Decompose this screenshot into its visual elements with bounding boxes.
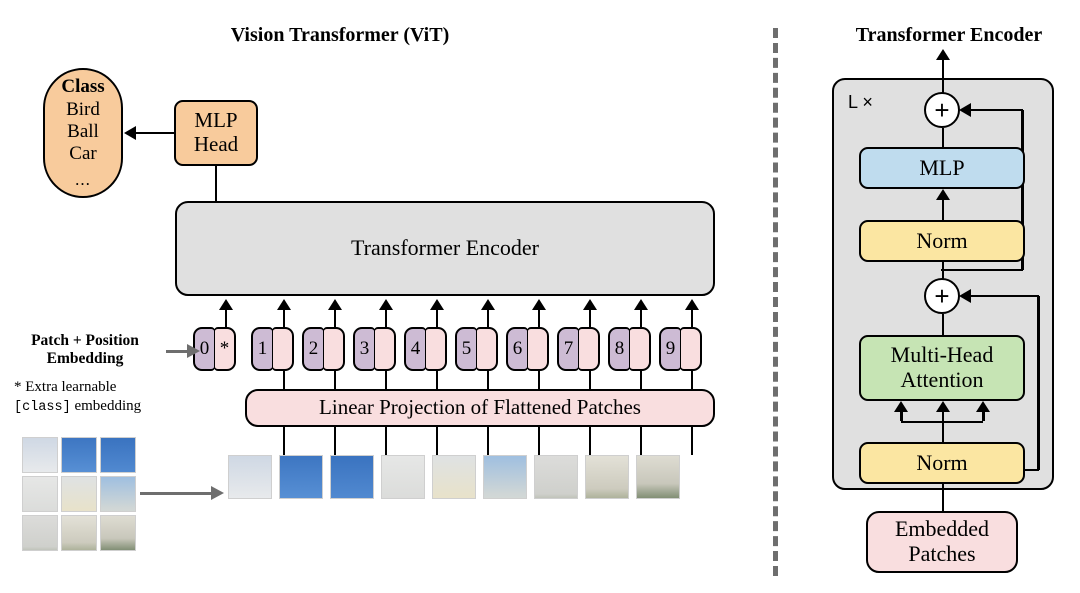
class-item-car: Car [69, 143, 96, 165]
embedded-patches-line2: Patches [908, 542, 975, 567]
norm-top-to-mlp-arrowhead [936, 189, 950, 200]
source-patch-5 [61, 476, 97, 512]
attention-residual-arrowhead [959, 289, 971, 303]
token-7: 7 [557, 327, 600, 371]
patch-9-to-projection-line [691, 427, 694, 455]
patch-6-to-projection-line [538, 427, 541, 455]
embedding-caption-arrowhead [187, 344, 200, 358]
class-token-note-line2: [class] embedding [14, 397, 184, 417]
token-5-to-encoder-arrowhead [481, 299, 495, 310]
token-3: 3 [353, 327, 396, 371]
source-patch-1 [22, 437, 58, 473]
linear-projection-bar: Linear Projection of Flattened Patches [245, 389, 715, 427]
sequence-patch-5 [432, 455, 476, 499]
linear-projection-label: Linear Projection of Flattened Patches [319, 396, 641, 420]
attention-residual-vertical [1037, 296, 1040, 470]
token-3-position-embedding: 3 [353, 327, 375, 371]
mlp-head-to-class-line [136, 132, 174, 135]
qkv-stem-v [982, 411, 985, 421]
source-image-patch-grid [22, 437, 136, 551]
patch-5-to-projection-line [487, 427, 490, 455]
norm-bottom-label: Norm [916, 451, 967, 476]
mlp-head-line1: MLP [194, 109, 237, 133]
token-6: 6 [506, 327, 549, 371]
token-1-patch-embedding [272, 327, 294, 371]
token-1-to-encoder-line [283, 310, 286, 327]
qkv-arrowhead-v [976, 401, 990, 412]
sequence-patch-6 [483, 455, 527, 499]
norm-top-block: Norm [859, 220, 1025, 262]
class-label: Class [61, 76, 104, 98]
token-3-from-projection-line [385, 371, 388, 389]
token-5: 5 [455, 327, 498, 371]
qkv-stem-k [942, 411, 945, 443]
token-2-position-embedding: 2 [302, 327, 324, 371]
qkv-arrowhead-q [894, 401, 908, 412]
sequence-patch-3 [330, 455, 374, 499]
token-7-to-encoder-line [589, 310, 592, 327]
token-4-to-encoder-arrowhead [430, 299, 444, 310]
token-4-patch-embedding [425, 327, 447, 371]
token-6-patch-embedding [527, 327, 549, 371]
mlp-to-top-add-line [942, 128, 945, 148]
token-0-to-encoder-arrowhead [219, 299, 233, 310]
source-patch-8 [61, 515, 97, 551]
vit-architecture-figure: Vision Transformer (ViT) Class Bird Ball… [0, 0, 1080, 593]
embedding-caption-arrow-line [166, 350, 188, 353]
sequence-patch-4 [381, 455, 425, 499]
token-2-from-projection-line [334, 371, 337, 389]
sequence-patch-7 [534, 455, 578, 499]
token-5-patch-embedding [476, 327, 498, 371]
norm-top-label: Norm [916, 229, 967, 254]
token-6-position-embedding: 6 [506, 327, 528, 371]
norm-top-to-mlp-line [942, 199, 945, 221]
token-2: 2 [302, 327, 345, 371]
residual-add-bottom: + [924, 278, 960, 314]
token-8-from-projection-line [640, 371, 643, 389]
patch-3-to-projection-line [385, 427, 388, 455]
token-8: 8 [608, 327, 651, 371]
token-7-from-projection-line [589, 371, 592, 389]
token-9-patch-embedding [680, 327, 702, 371]
mlp-head-to-encoder-line [215, 166, 218, 202]
patch-grid-to-sequence-arrowhead [211, 486, 224, 500]
sequence-patch-2 [279, 455, 323, 499]
token-5-position-embedding: 5 [455, 327, 477, 371]
token-3-to-encoder-line [385, 310, 388, 327]
patch-7-to-projection-line [589, 427, 592, 455]
source-patch-6 [100, 476, 136, 512]
attention-to-bottom-add-line [942, 314, 945, 336]
source-patch-7 [22, 515, 58, 551]
token-8-to-encoder-arrowhead [634, 299, 648, 310]
token-7-to-encoder-arrowhead [583, 299, 597, 310]
transformer-encoder-label: Transformer Encoder [351, 236, 539, 261]
token-5-from-projection-line [487, 371, 490, 389]
source-patch-9 [100, 515, 136, 551]
class-token-note-suffix: embedding [71, 398, 141, 414]
mlp-block-label: MLP [919, 156, 964, 181]
mlp-residual-horizontal-top [971, 109, 1023, 112]
class-item-ball: Ball [67, 121, 99, 143]
attention-residual-horizontal-top [971, 295, 1039, 298]
token-6-from-projection-line [538, 371, 541, 389]
class-output-pill: Class Bird Ball Car ... [43, 68, 123, 198]
token-8-to-encoder-line [640, 310, 643, 327]
patch-8-to-projection-line [640, 427, 643, 455]
token-7-position-embedding: 7 [557, 327, 579, 371]
source-patch-2 [61, 437, 97, 473]
mlp-residual-arrowhead [959, 103, 971, 117]
residual-add-top: + [924, 92, 960, 128]
sequence-patch-1 [228, 455, 272, 499]
token-6-to-encoder-arrowhead [532, 299, 546, 310]
token-1-position-embedding: 1 [251, 327, 273, 371]
token-8-position-embedding: 8 [608, 327, 630, 371]
patch-position-embedding-caption: Patch + Position Embedding [10, 332, 160, 369]
qkv-arrowhead-k [936, 401, 950, 412]
token-4-position-embedding: 4 [404, 327, 426, 371]
token-9-from-projection-line [691, 371, 694, 389]
token-4-to-encoder-line [436, 310, 439, 327]
token-4: 4 [404, 327, 447, 371]
token-9-position-embedding: 9 [659, 327, 681, 371]
class-ellipsis: ... [75, 170, 91, 190]
norm-bottom-block: Norm [859, 442, 1025, 484]
patch-grid-to-sequence-line [140, 492, 212, 495]
token-7-patch-embedding [578, 327, 600, 371]
token-9: 9 [659, 327, 702, 371]
token-2-to-encoder-line [334, 310, 337, 327]
class-token-mono: [class] [14, 400, 71, 415]
token-6-to-encoder-line [538, 310, 541, 327]
token-2-patch-embedding [323, 327, 345, 371]
token-9-to-encoder-line [691, 310, 694, 327]
sequence-patch-8 [585, 455, 629, 499]
patch-1-to-projection-line [283, 427, 286, 455]
token-3-to-encoder-arrowhead [379, 299, 393, 310]
embedded-patches-block: Embedded Patches [866, 511, 1018, 573]
left-panel-title: Vision Transformer (ViT) [180, 24, 500, 47]
top-add-to-output-line [942, 78, 945, 94]
panel-divider [773, 28, 778, 576]
encoder-repeat-label: L × [848, 92, 873, 113]
token-0-to-encoder-line [225, 310, 228, 327]
encoder-output-arrowhead [936, 49, 950, 60]
class-token-note-line1: * Extra learnable [14, 378, 184, 397]
source-patch-3 [100, 437, 136, 473]
class-item-bird: Bird [66, 99, 100, 121]
embedding-caption-line2: Embedding [10, 350, 160, 368]
sequence-patch-9 [636, 455, 680, 499]
token-4-from-projection-line [436, 371, 439, 389]
mlp-head-line2: Head [194, 133, 238, 157]
patch-4-to-projection-line [436, 427, 439, 455]
patch-2-to-projection-line [334, 427, 337, 455]
token-5-to-encoder-line [487, 310, 490, 327]
qkv-stem-q [900, 411, 903, 421]
attention-line2: Attention [900, 368, 983, 393]
token-1-to-encoder-arrowhead [277, 299, 291, 310]
token-3-patch-embedding [374, 327, 396, 371]
token-2-to-encoder-arrowhead [328, 299, 342, 310]
mlp-head-to-class-arrowhead [124, 126, 136, 140]
source-patch-4 [22, 476, 58, 512]
token-9-to-encoder-arrowhead [685, 299, 699, 310]
token-8-patch-embedding [629, 327, 651, 371]
token-1: 1 [251, 327, 294, 371]
token-0-patch-embedding: * [214, 327, 236, 371]
attention-line1: Multi-Head [891, 343, 994, 368]
mlp-head-box: MLP Head [174, 100, 258, 166]
mlp-block: MLP [859, 147, 1025, 189]
embedded-patches-line1: Embedded [895, 517, 989, 542]
embedding-caption-line1: Patch + Position [10, 332, 160, 350]
class-token-note: * Extra learnable [class] embedding [14, 378, 184, 417]
mlp-residual-horizontal-bottom [941, 269, 1023, 272]
right-panel-title: Transformer Encoder [818, 24, 1080, 47]
embedded-patches-to-norm-line [942, 484, 945, 512]
transformer-encoder-block: Transformer Encoder [175, 201, 715, 296]
token-1-from-projection-line [283, 371, 286, 389]
multi-head-attention-block: Multi-Head Attention [859, 335, 1025, 401]
